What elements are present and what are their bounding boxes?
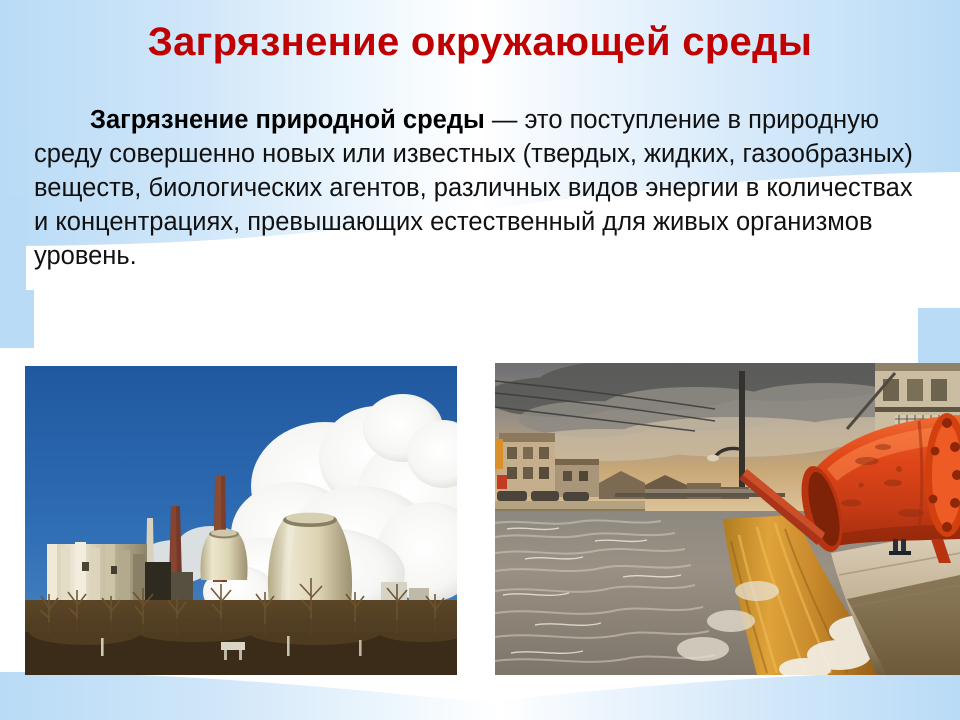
power-plant-illustration bbox=[25, 366, 457, 675]
power-plant-photo bbox=[25, 366, 457, 675]
body-lead-term: Загрязнение природной среды bbox=[90, 106, 485, 134]
slide: Загрязнение окружающей среды Загрязнение… bbox=[0, 0, 960, 720]
body-dash: — bbox=[485, 106, 525, 134]
slide-title: Загрязнение окружающей среды bbox=[0, 20, 960, 65]
body-paragraph: Загрязнение природной среды — это поступ… bbox=[34, 103, 930, 273]
sewage-pipe-photo bbox=[495, 363, 960, 675]
sewage-pipe-illustration bbox=[495, 363, 960, 675]
